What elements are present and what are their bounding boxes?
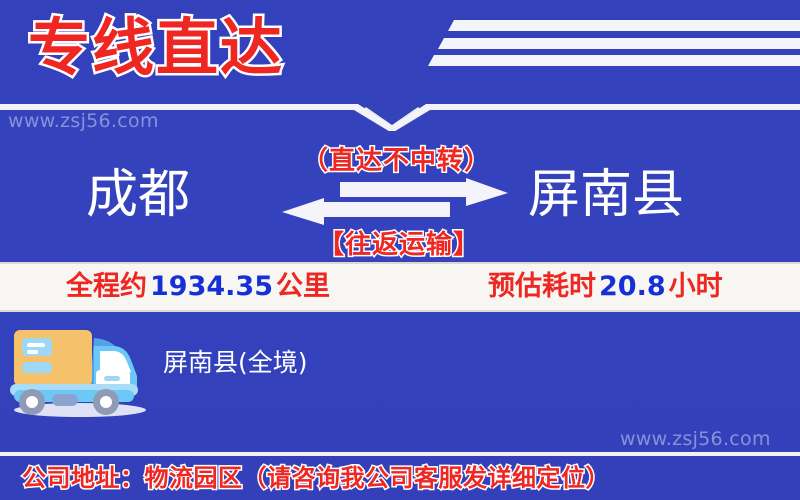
company-address-text: 公司地址：物流园区（请咨询我公司客服发详细定位）	[22, 459, 610, 497]
duration-info: 预估耗时20.8小时	[488, 264, 723, 310]
distance-value: 1934.35	[147, 271, 276, 302]
coverage-area-text: 屏南县(全境)	[163, 346, 308, 380]
speed-line-2	[438, 38, 800, 49]
speed-line-1	[448, 20, 800, 31]
distance-unit: 公里	[276, 271, 330, 302]
origin-city: 成都	[86, 163, 190, 227]
speed-line-3	[428, 55, 800, 66]
bidirectional-arrow-icon	[280, 178, 510, 226]
speed-lines-decoration	[380, 0, 800, 100]
distance-info: 全程约1934.35公里	[66, 264, 330, 310]
banner-header: 专线直达	[0, 0, 800, 100]
direct-transport-badge: （直达不中转）	[302, 140, 491, 177]
duration-unit: 小时	[669, 271, 723, 302]
duration-label: 预估耗时	[488, 271, 596, 302]
watermark-top: www.zsj56.com	[8, 110, 159, 132]
delivery-truck-icon	[8, 318, 156, 418]
delivery-coverage-section: 屏南县(全境)	[0, 310, 800, 430]
duration-value: 20.8	[596, 271, 669, 302]
round-trip-badge: 【往返运输】	[318, 224, 480, 261]
distance-label: 全程约	[66, 271, 147, 302]
banner-title: 专线直达	[28, 4, 284, 92]
watermark-bottom: www.zsj56.com	[620, 428, 771, 450]
route-info-bar: 全程约1934.35公里 预估耗时20.8小时	[0, 262, 800, 312]
logistics-route-banner: 专线直达 成都 屏南县 （直达不中转） 【往返运输】 www.zsj56.com	[0, 0, 800, 500]
destination-city: 屏南县	[528, 163, 684, 227]
banner-footer: 公司地址：物流园区（请咨询我公司客服发详细定位）	[0, 456, 800, 500]
